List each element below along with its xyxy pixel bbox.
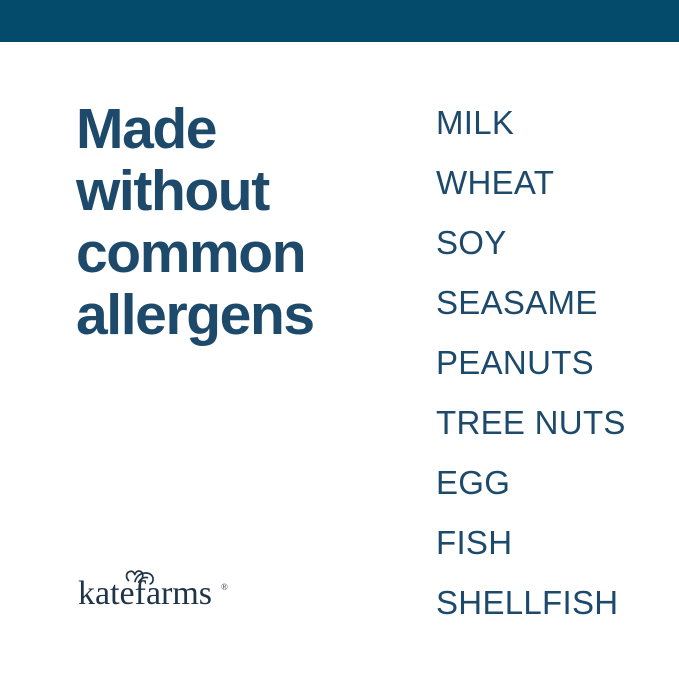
list-item: SHELLFISH [436,584,666,644]
allergen-label-seasame: SEASAME [436,284,598,322]
list-item: SEASAME [436,284,666,344]
allergen-label-shellfish: SHELLFISH [436,584,618,622]
allergen-label-soy: SOY [436,224,507,262]
list-item: MILK [436,104,666,164]
list-item: WHEAT [436,164,666,224]
page-title: Made without common allergens [76,98,406,346]
list-item: FISH [436,524,666,584]
list-item: SOY [436,224,666,284]
allergen-label-fish: FISH [436,524,512,562]
allergen-label-milk: MILK [436,104,514,142]
list-item: EGG [436,464,666,524]
allergen-label-peanuts: PEANUTS [436,344,594,382]
brand-logo: katefarms ® [78,566,248,614]
list-item: TREE NUTS [436,404,666,464]
registered-trademark-symbol: ® [221,582,228,592]
headline-line-3: common [76,222,406,284]
brand-wordmark: katefarms [78,575,212,612]
headline-line-1: Made [76,98,406,160]
allergen-label-wheat: WHEAT [436,164,554,202]
headline-line-4: allergens [76,284,406,346]
headline-line-2: without [76,160,406,222]
allergen-label-egg: EGG [436,464,510,502]
allergen-infographic: Made without common allergens MILK WHEAT… [0,0,679,679]
allergen-list: MILK WHEAT SOY SEASAME PEANUTS TREE NUTS… [436,104,666,644]
top-navy-bar [0,0,679,42]
list-item: PEANUTS [436,344,666,404]
allergen-label-tree-nuts: TREE NUTS [436,404,626,442]
